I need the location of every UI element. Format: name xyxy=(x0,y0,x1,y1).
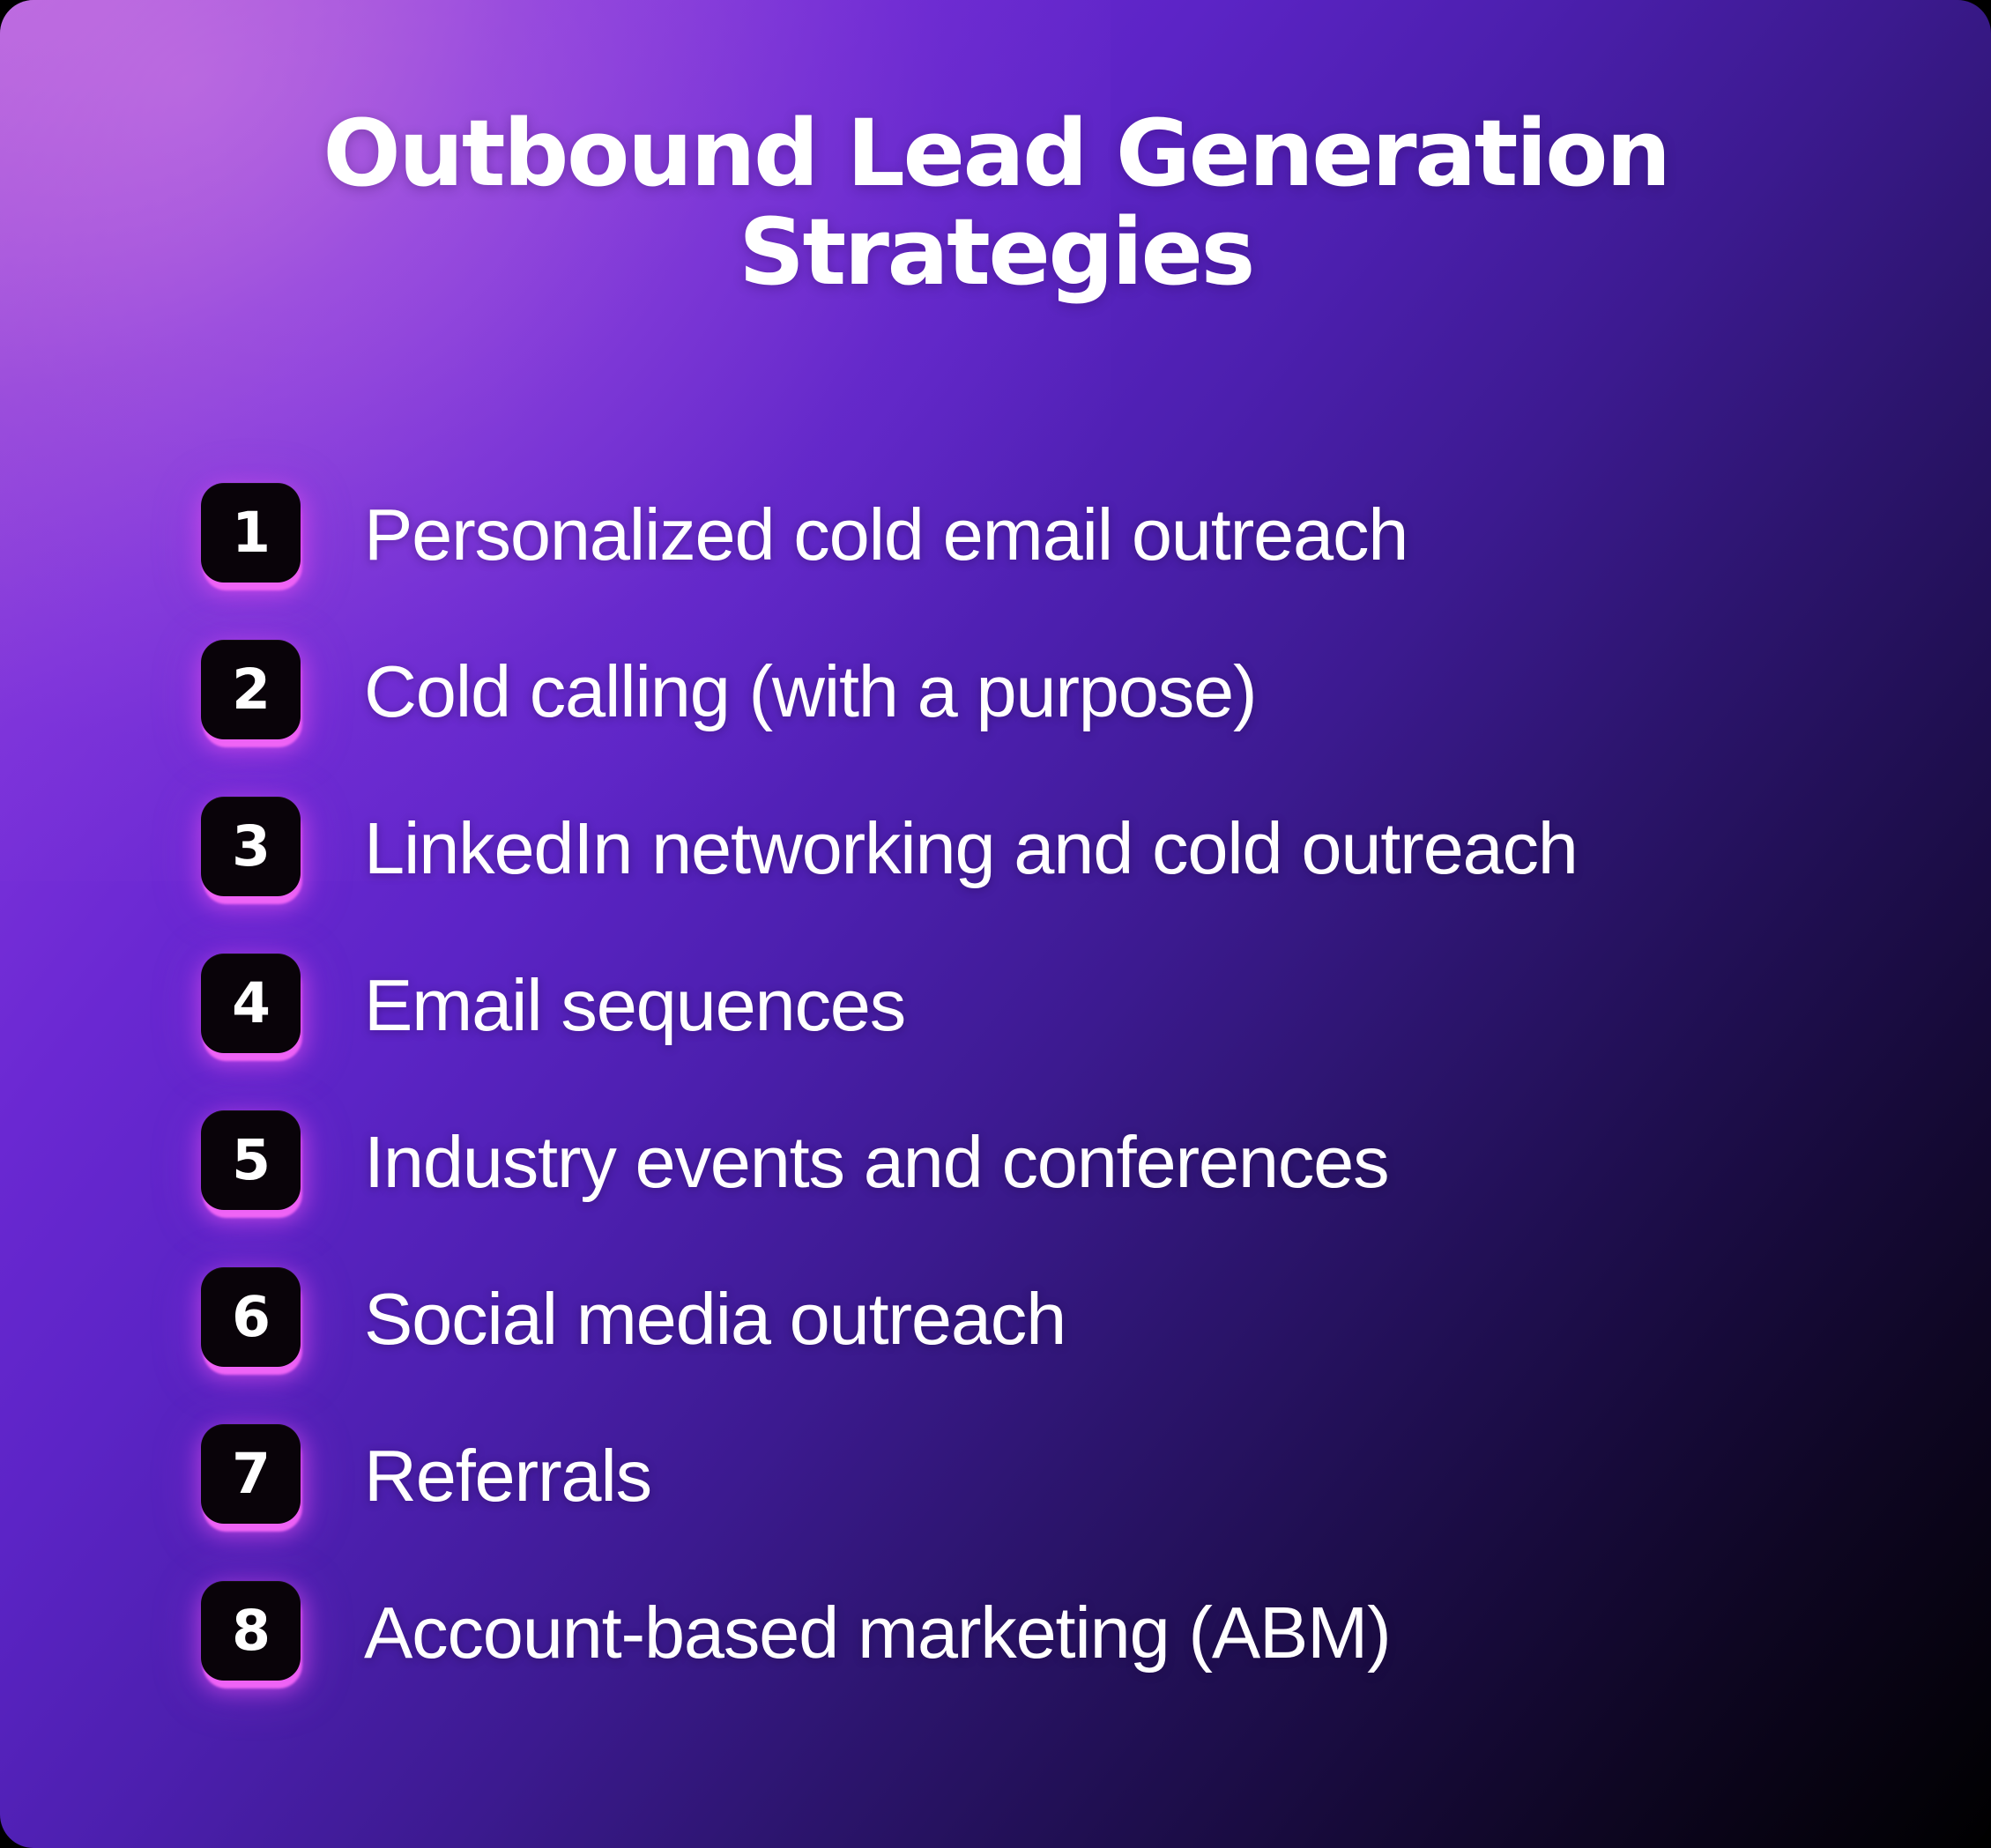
list-item: 2 Cold calling (with a purpose) xyxy=(0,640,1991,797)
badge-number: 4 xyxy=(201,954,301,1053)
list-item: 6 Social media outreach xyxy=(0,1267,1991,1424)
badge-number: 3 xyxy=(201,797,301,896)
list-item-badge: 6 xyxy=(201,1267,304,1375)
list-item-label: LinkedIn networking and cold outreach xyxy=(364,797,1578,901)
list-item-badge: 4 xyxy=(201,954,304,1061)
list-item: 7 Referrals xyxy=(0,1424,1991,1581)
page-title: Outbound Lead Generation Strategies xyxy=(167,104,1824,302)
list-item-badge: 1 xyxy=(201,483,304,590)
badge-number: 5 xyxy=(201,1110,301,1210)
list-item-label: Email sequences xyxy=(364,954,905,1058)
list-item: 3 LinkedIn networking and cold outreach xyxy=(0,797,1991,954)
infographic-canvas: Outbound Lead Generation Strategies 1 Pe… xyxy=(0,0,1991,1848)
badge-number: 7 xyxy=(201,1424,301,1524)
list-item: 1 Personalized cold email outreach xyxy=(0,483,1991,640)
list-item-label: Industry events and conferences xyxy=(364,1110,1388,1214)
badge-number: 2 xyxy=(201,640,301,739)
list-item: 4 Email sequences xyxy=(0,954,1991,1110)
list-item-badge: 2 xyxy=(201,640,304,747)
badge-number: 1 xyxy=(201,483,301,583)
list-item-label: Account-based marketing (ABM) xyxy=(364,1581,1391,1685)
page-title-line-2: Strategies xyxy=(167,203,1824,301)
list-item-badge: 7 xyxy=(201,1424,304,1532)
badge-number: 8 xyxy=(201,1581,301,1681)
list-item-label: Personalized cold email outreach xyxy=(364,483,1408,587)
gradient-card: Outbound Lead Generation Strategies 1 Pe… xyxy=(0,0,1991,1848)
badge-number: 6 xyxy=(201,1267,301,1367)
strategy-list: 1 Personalized cold email outreach 2 Col… xyxy=(0,483,1991,1738)
list-item-label: Referrals xyxy=(364,1424,651,1528)
page-title-line-1: Outbound Lead Generation xyxy=(167,104,1824,203)
list-item-label: Cold calling (with a purpose) xyxy=(364,640,1256,744)
list-item-badge: 3 xyxy=(201,797,304,904)
list-item-label: Social media outreach xyxy=(364,1267,1066,1371)
list-item: 8 Account-based marketing (ABM) xyxy=(0,1581,1991,1738)
list-item-badge: 5 xyxy=(201,1110,304,1218)
list-item-badge: 8 xyxy=(201,1581,304,1688)
list-item: 5 Industry events and conferences xyxy=(0,1110,1991,1267)
